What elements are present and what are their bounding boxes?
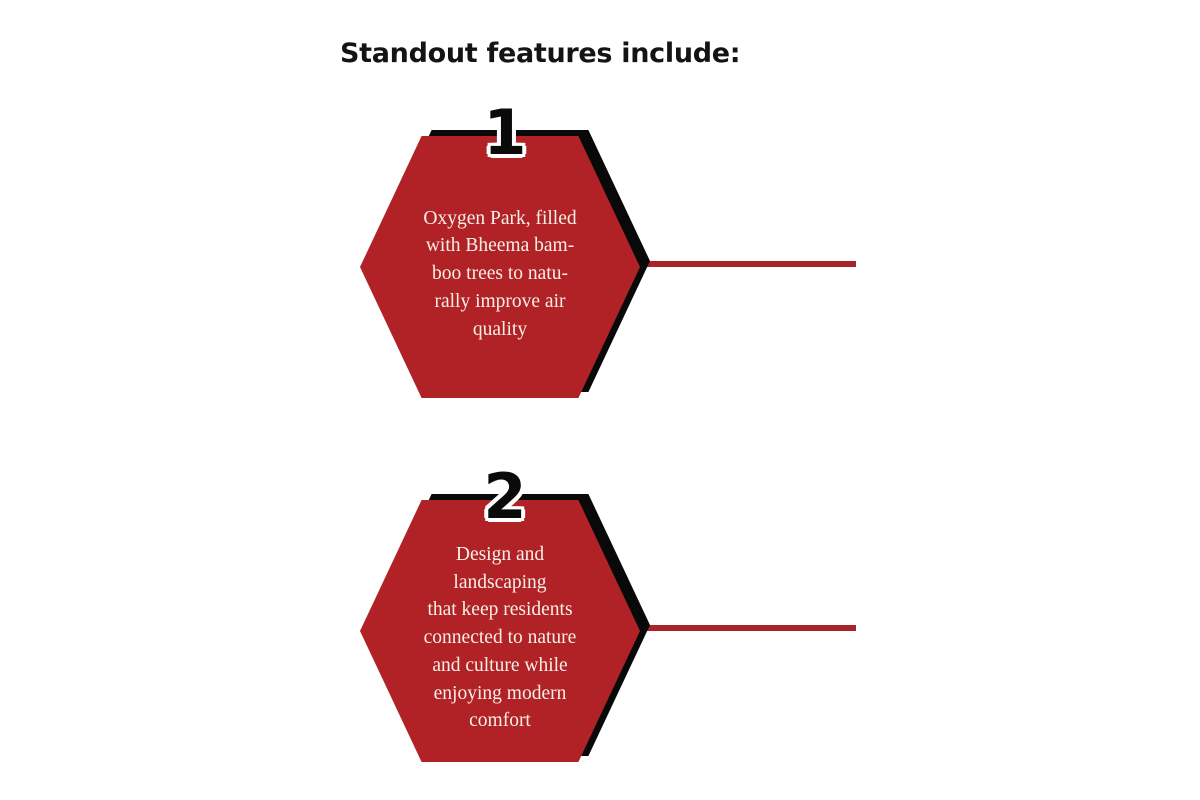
- infographic-canvas: Standout features include: Oxygen Park, …: [0, 0, 1200, 800]
- feature-text-line: with Bheema bam-: [404, 232, 596, 260]
- connector-line-2: [638, 625, 856, 631]
- feature-text-line: and culture while: [404, 652, 596, 680]
- feature-text-2: Design and landscaping that keep residen…: [404, 541, 596, 735]
- hexagon-2[interactable]: Design and landscaping that keep residen…: [360, 500, 650, 762]
- hexagon-1[interactable]: Oxygen Park, filled with Bheema bam- boo…: [360, 136, 650, 398]
- feature-text-line: connected to nature: [404, 624, 596, 652]
- feature-text-line: comfort: [404, 707, 596, 735]
- feature-text-1: Oxygen Park, filled with Bheema bam- boo…: [404, 205, 596, 343]
- feature-text-line: quality: [404, 316, 596, 344]
- step-number-2: 2: [475, 466, 535, 528]
- step-number-1: 1: [475, 102, 535, 164]
- feature-text-line: rally improve air: [404, 288, 596, 316]
- feature-text-line: landscaping: [404, 569, 596, 597]
- feature-text-line: Design and: [404, 541, 596, 569]
- feature-text-line: boo trees to natu-: [404, 260, 596, 288]
- page-title: Standout features include:: [340, 38, 740, 70]
- feature-text-line: Oxygen Park, filled: [404, 205, 596, 233]
- connector-line-1: [638, 261, 856, 267]
- feature-item-1: Oxygen Park, filled with Bheema bam- boo…: [360, 108, 920, 408]
- feature-item-2: Design and landscaping that keep residen…: [360, 472, 920, 772]
- feature-text-line: that keep residents: [404, 596, 596, 624]
- feature-text-line: enjoying modern: [404, 680, 596, 708]
